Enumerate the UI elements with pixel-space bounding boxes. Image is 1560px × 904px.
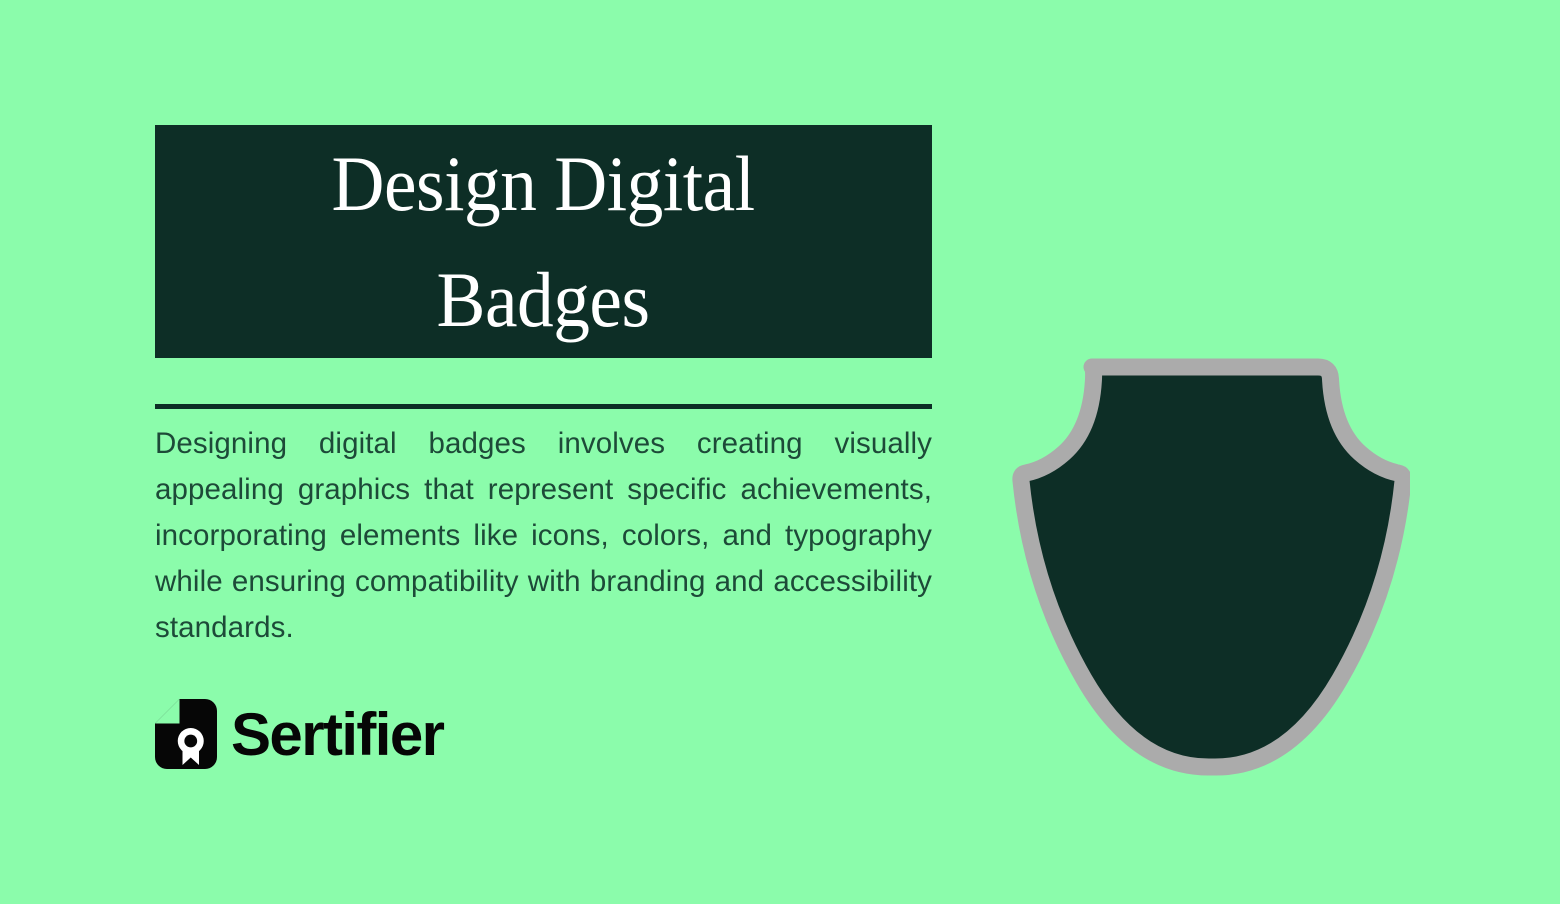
body-paragraph: Designing digital badges involves creati… (155, 421, 932, 651)
title-block: Design Digital Badges (155, 125, 932, 358)
slide-canvas: Design Digital Badges Designing digital … (0, 0, 1560, 904)
content-column: Design Digital Badges Designing digital … (155, 125, 932, 681)
divider-rule (155, 404, 932, 409)
shield-icon (1000, 345, 1410, 790)
shield-graphic (1000, 345, 1410, 790)
certificate-document-medal-icon (155, 699, 217, 769)
logo-wordmark: Sertifier (231, 705, 443, 765)
page-title: Design Digital Badges (332, 126, 755, 357)
sertifier-logo: Sertifier (155, 699, 443, 769)
